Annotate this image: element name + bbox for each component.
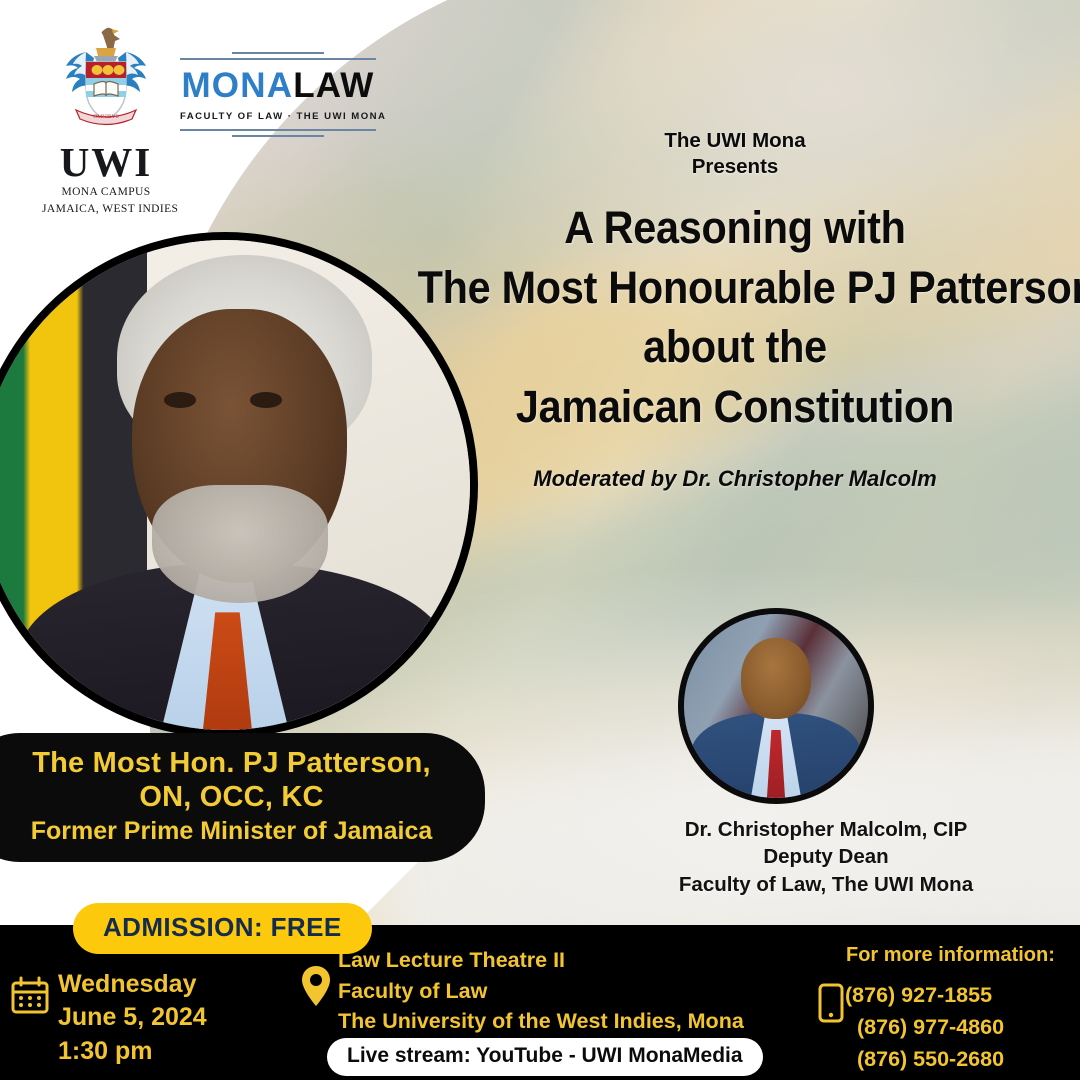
title-block: The UWI Mona Presents A Reasoning with T… (390, 128, 1080, 492)
event-time: 1:30 pm (58, 1035, 298, 1068)
presents-line-2: Presents (390, 154, 1080, 180)
svg-text:OMNIBVS: OMNIBVS (93, 114, 118, 120)
christopher-malcolm-portrait (678, 608, 874, 804)
monalaw-tagline: FACULTY OF LAW · THE UWI MONA (180, 111, 376, 122)
monalaw-rule-lower (180, 129, 376, 131)
speaker-name-line2: ON, OCC, KC (6, 781, 457, 815)
pj-patterson-portrait (0, 232, 478, 738)
contact-phone-1[interactable]: (876) 927-1855 (845, 980, 1075, 1012)
speaker-role: Former Prime Minister of Jamaica (6, 816, 457, 846)
moderator-caption-line2: Deputy Dean (606, 843, 1046, 870)
speaker-name-banner: The Most Hon. PJ Patterson, ON, OCC, KC … (0, 733, 485, 862)
headline-line-4: Jamaican Constitution (418, 377, 1053, 436)
logo-header: OMNIBVS UWI MONA CAMPUS JAMAICA, WEST IN… (0, 0, 400, 215)
contact-phone-list: (876) 927-1855 (876) 977-4860 (876) 550-… (845, 980, 1075, 1075)
calendar-icon (10, 976, 50, 1016)
livestream-badge[interactable]: Live stream: YouTube - UWI MonaMedia (327, 1038, 763, 1076)
headline-line-3: about the (418, 317, 1053, 376)
event-date-block: Wednesday June 5, 2024 1:30 pm (58, 968, 298, 1068)
event-poster: OMNIBVS UWI MONA CAMPUS JAMAICA, WEST IN… (0, 0, 1080, 1080)
map-pin-icon (300, 965, 332, 1007)
monalaw-word-law: LAW (293, 66, 374, 105)
headline-line-1: A Reasoning with (418, 198, 1053, 257)
christopher-malcolm-photo (684, 614, 868, 798)
monalaw-rule-bottom (232, 135, 324, 137)
uwi-sub-line2: JAMAICA, WEST INDIES (42, 203, 170, 217)
contact-phone-2[interactable]: (876) 977-4860 (845, 1012, 1075, 1044)
moderator-head (741, 638, 811, 719)
pj-eye-left (164, 392, 196, 408)
headline-line-2: The Most Honourable PJ Patterson (418, 258, 1053, 317)
uwi-crest-icon: OMNIBVS (50, 22, 162, 140)
moderated-by-text: Moderated by Dr. Christopher Malcolm (390, 466, 1080, 492)
monalaw-rule-top (232, 52, 324, 54)
uwi-sub-line1: MONA CAMPUS (42, 186, 170, 200)
presents-line-1: The UWI Mona (390, 128, 1080, 154)
event-day: Wednesday (58, 968, 298, 1001)
pj-patterson-photo (0, 240, 470, 730)
pj-eye-right (250, 392, 282, 408)
uwi-logo: OMNIBVS UWI MONA CAMPUS JAMAICA, WEST IN… (42, 22, 170, 217)
moderator-caption: Dr. Christopher Malcolm, CIP Deputy Dean… (606, 816, 1046, 898)
monalaw-word-mona: MONA (181, 66, 293, 105)
monalaw-wordmark: MONALAW (180, 68, 376, 103)
contact-phone-3[interactable]: (876) 550-2680 (845, 1044, 1075, 1076)
moderator-caption-line3: Faculty of Law, The UWI Mona (606, 871, 1046, 898)
page-title: A Reasoning with The Most Honourable PJ … (390, 198, 1080, 436)
uwi-wordmark: UWI (42, 142, 170, 183)
event-date: June 5, 2024 (58, 1001, 298, 1034)
pj-beard (152, 485, 328, 603)
contact-heading: For more information: (846, 944, 1066, 967)
moderator-caption-line1: Dr. Christopher Malcolm, CIP (606, 816, 1046, 843)
venue-line-1: Law Lecture Theatre II (338, 945, 808, 976)
monalaw-logo: MONALAW FACULTY OF LAW · THE UWI MONA (180, 52, 376, 137)
monalaw-rule-upper (180, 58, 376, 60)
venue-line-2: Faculty of Law (338, 976, 808, 1007)
mobile-phone-icon (818, 983, 844, 1023)
event-venue-block: Law Lecture Theatre II Faculty of Law Th… (338, 945, 808, 1037)
speaker-name-line1: The Most Hon. PJ Patterson, (6, 747, 457, 781)
venue-line-3: The University of the West Indies, Mona (338, 1006, 808, 1037)
admission-badge: ADMISSION: FREE (73, 903, 372, 954)
